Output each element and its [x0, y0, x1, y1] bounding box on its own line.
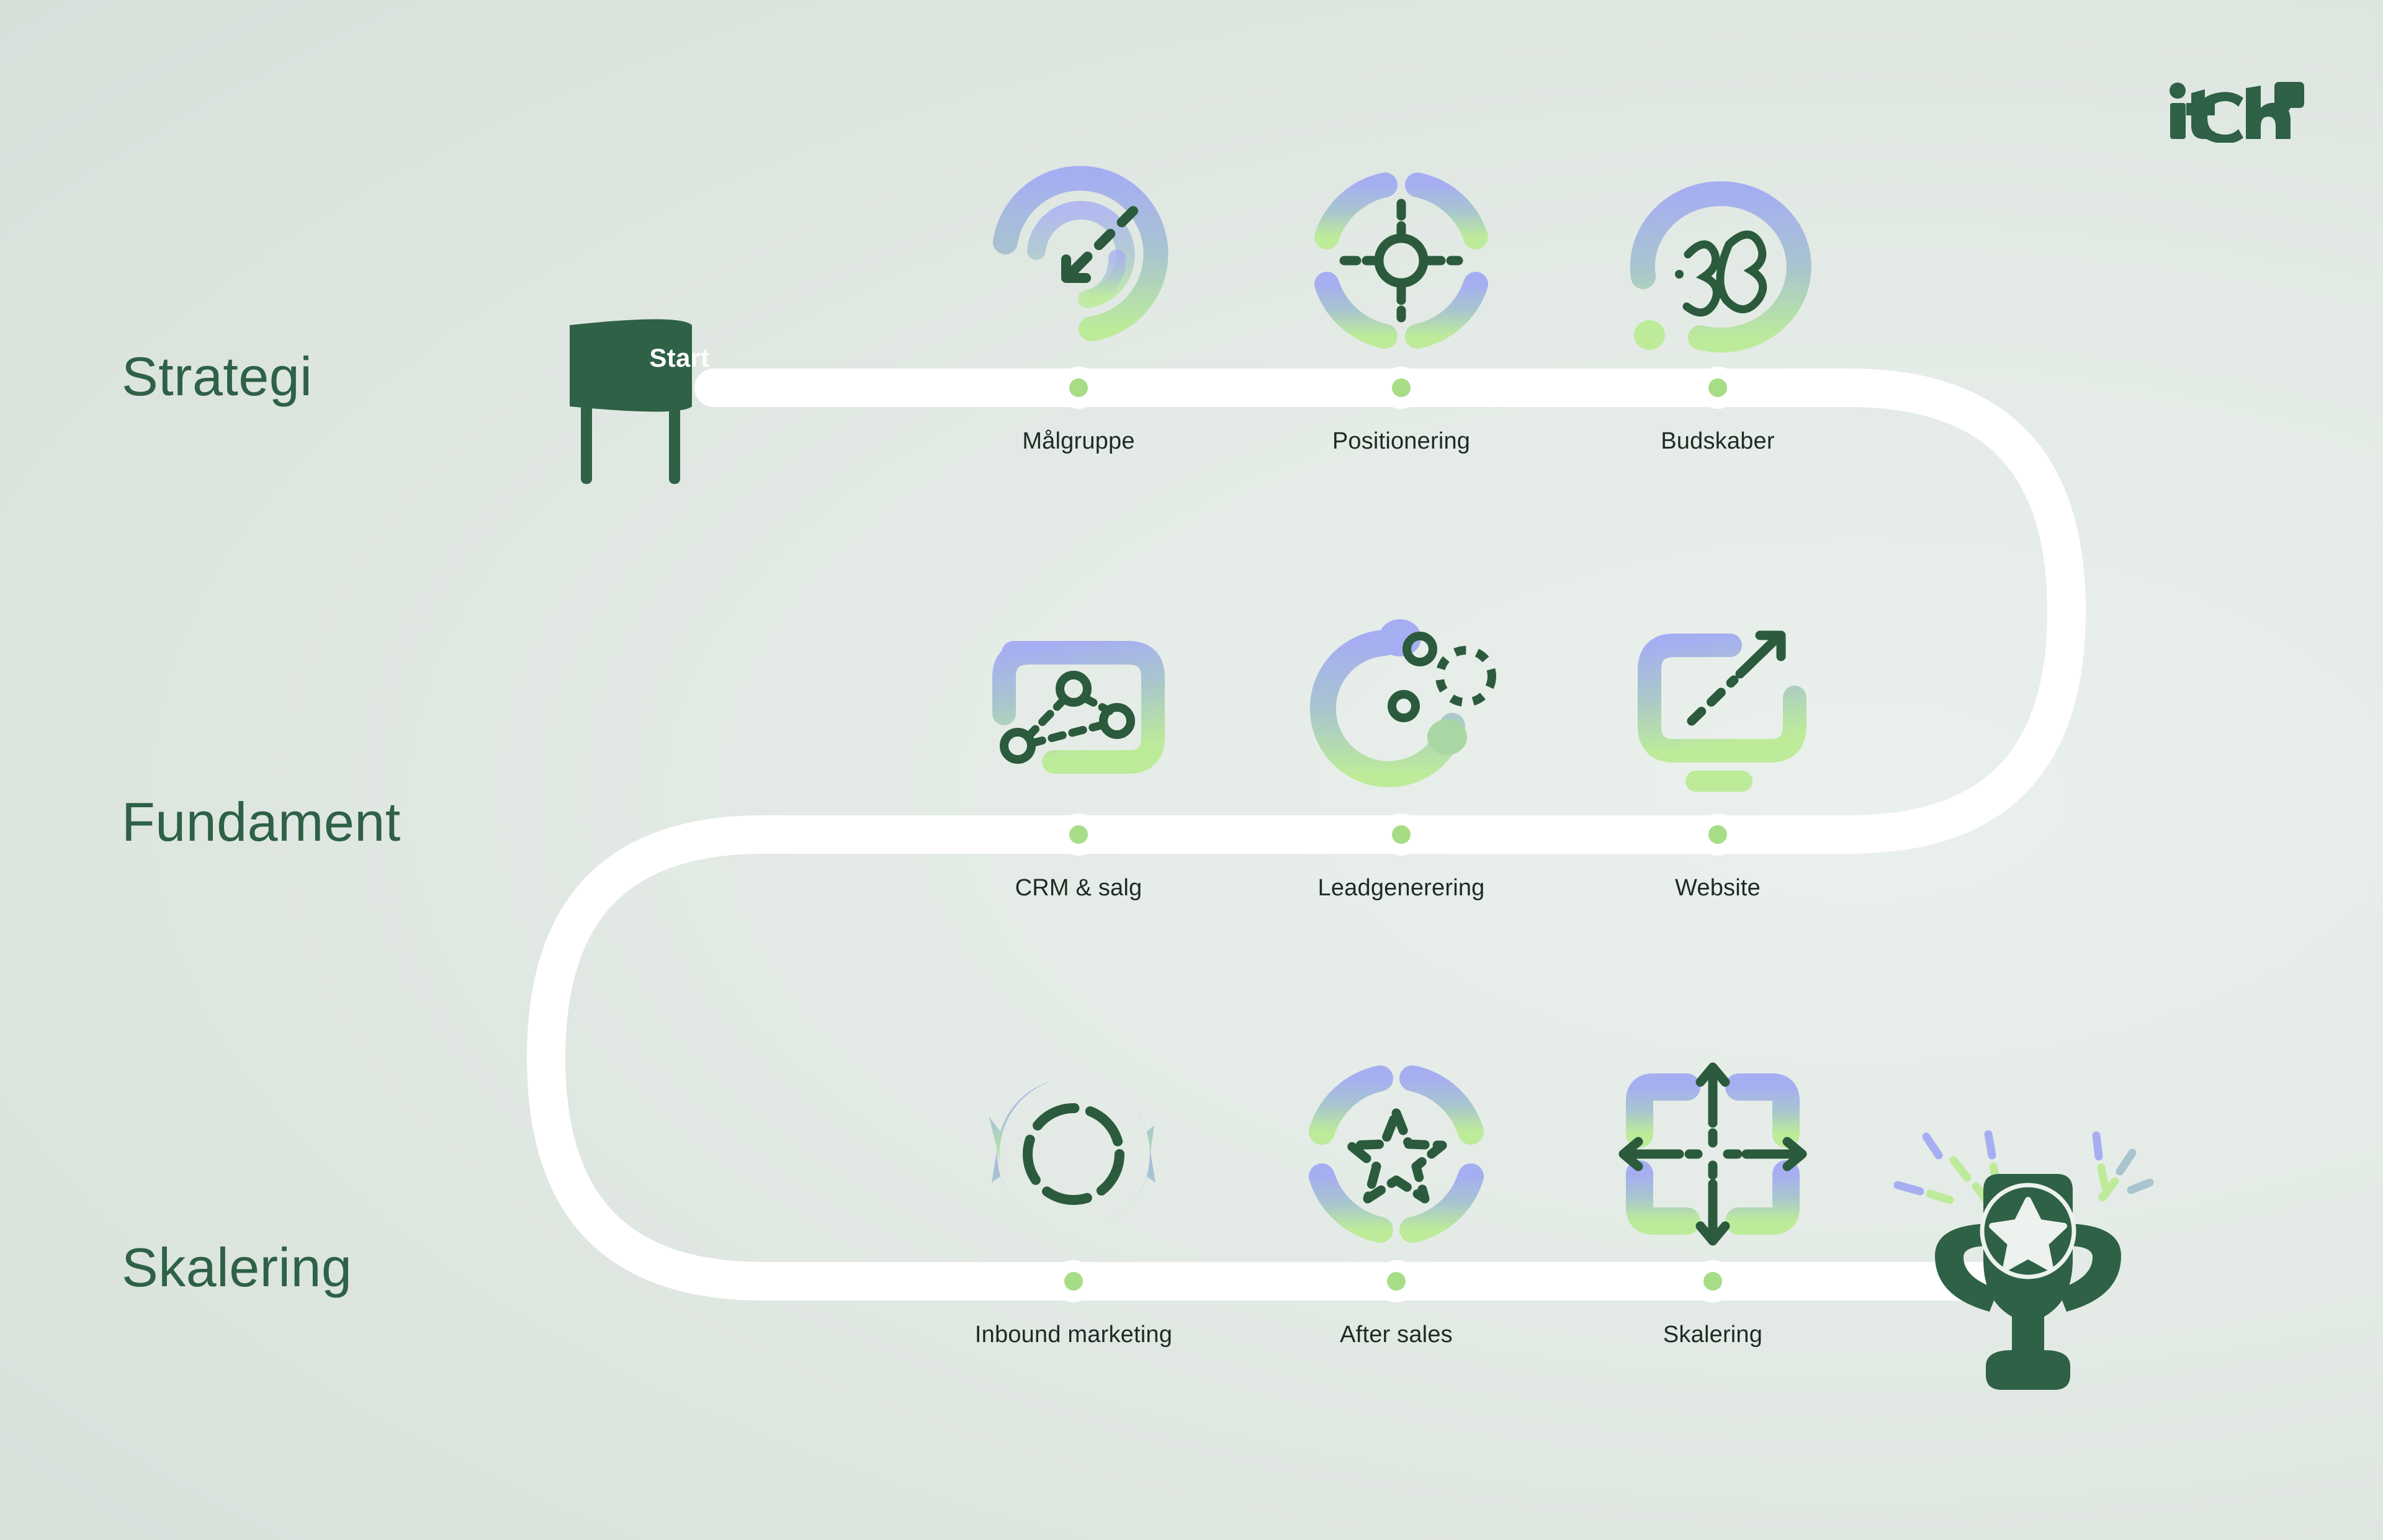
star-arcs-icon [1322, 1078, 1471, 1230]
crosshair-icon [1327, 185, 1476, 336]
trophy-icon [1898, 1134, 2150, 1390]
step-caption-skalering: Skalering [1663, 1322, 1762, 1348]
step-caption-budskaber: Budskaber [1661, 428, 1774, 455]
expand-corners-icon [1623, 1067, 1802, 1241]
infographic-canvas: Start Strategi Fundament Skalering Målgr… [0, 0, 2383, 1540]
step-caption-malgruppe: Målgruppe [1022, 428, 1134, 455]
step-caption-positionering: Positionering [1332, 428, 1470, 455]
row-label-strategi: Strategi [122, 345, 312, 408]
logo-dot [2170, 83, 2186, 99]
speech-bubble-quote-icon [1634, 194, 1799, 350]
target-arrow-icon [1005, 178, 1156, 329]
step-caption-after-sales: After sales [1340, 1322, 1453, 1348]
itch-logo[interactable] [2169, 81, 2305, 143]
start-label: Start [624, 343, 735, 373]
journey-path [546, 388, 2067, 1281]
step-caption-inbound-marketing: Inbound marketing [975, 1322, 1172, 1348]
step-caption-crm-salg: CRM & salg [1015, 875, 1142, 902]
monitor-growth-icon [1649, 635, 1795, 792]
cycle-arrows-icon [989, 1081, 1156, 1227]
step-caption-website: Website [1675, 875, 1761, 902]
lead-bubbles-icon [1323, 619, 1492, 774]
row-label-fundament: Fundament [122, 790, 401, 854]
row-label-skalering: Skalering [122, 1236, 352, 1299]
step-caption-leadgenerering: Leadgenerering [1317, 875, 1484, 902]
journey-artwork [0, 0, 2383, 1540]
network-board-icon [1004, 653, 1153, 762]
